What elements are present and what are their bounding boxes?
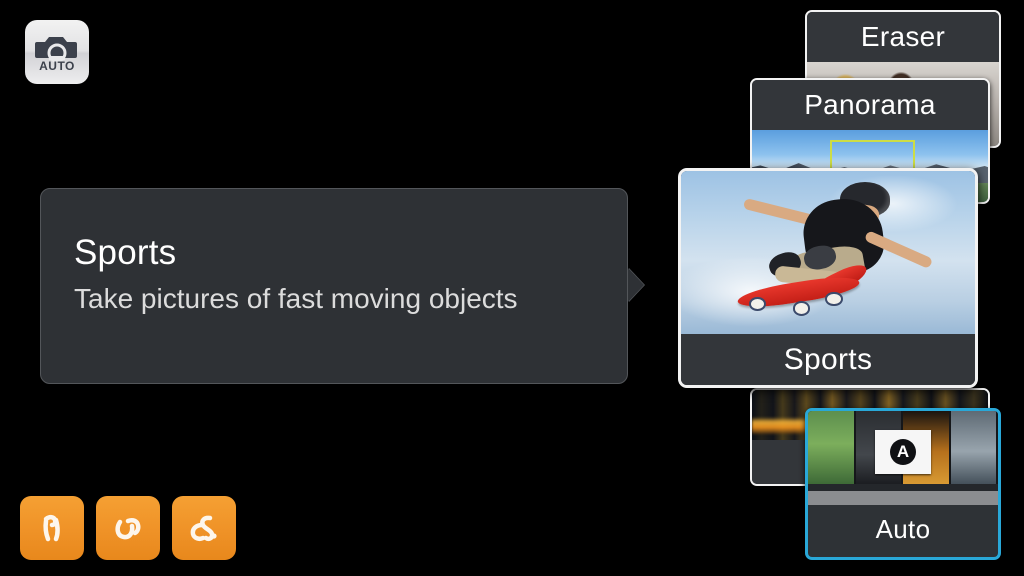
svg-text:AUTO: AUTO [39, 59, 75, 72]
auto-badge-chip: A [875, 430, 931, 474]
mode-card-auto[interactable]: A Auto [805, 408, 1001, 560]
mode-card-label-panorama: Panorama [752, 80, 988, 130]
mode-card-thumbnail-sports [681, 171, 975, 334]
camera-auto-icon: AUTO [33, 32, 81, 72]
tooltip-title: Sports [74, 233, 627, 273]
mode-card-sports[interactable]: Sports [678, 168, 978, 388]
tooltip-pointer-arrow [628, 268, 644, 302]
script-button-3[interactable] [172, 496, 236, 560]
script-button-2[interactable] [96, 496, 160, 560]
persian-glyph-1-icon [32, 508, 72, 548]
mode-card-label-eraser: Eraser [807, 12, 999, 62]
mode-card-label-auto: Auto [808, 505, 998, 553]
camera-viewport: AUTO Sports Take pictures of fast moving… [0, 0, 1024, 576]
mode-card-thumbnail-auto: A [808, 411, 998, 505]
script-button-1[interactable] [20, 496, 84, 560]
auto-badge-letter: A [890, 439, 916, 465]
persian-glyph-3-icon [184, 508, 224, 548]
auto-mode-badge[interactable]: AUTO [25, 20, 89, 84]
script-shortcut-row [20, 496, 236, 560]
mode-description-tooltip: Sports Take pictures of fast moving obje… [40, 188, 628, 384]
persian-glyph-2-icon [108, 508, 148, 548]
mode-card-label-sports: Sports [681, 334, 975, 385]
tooltip-description: Take pictures of fast moving objects [74, 282, 627, 316]
